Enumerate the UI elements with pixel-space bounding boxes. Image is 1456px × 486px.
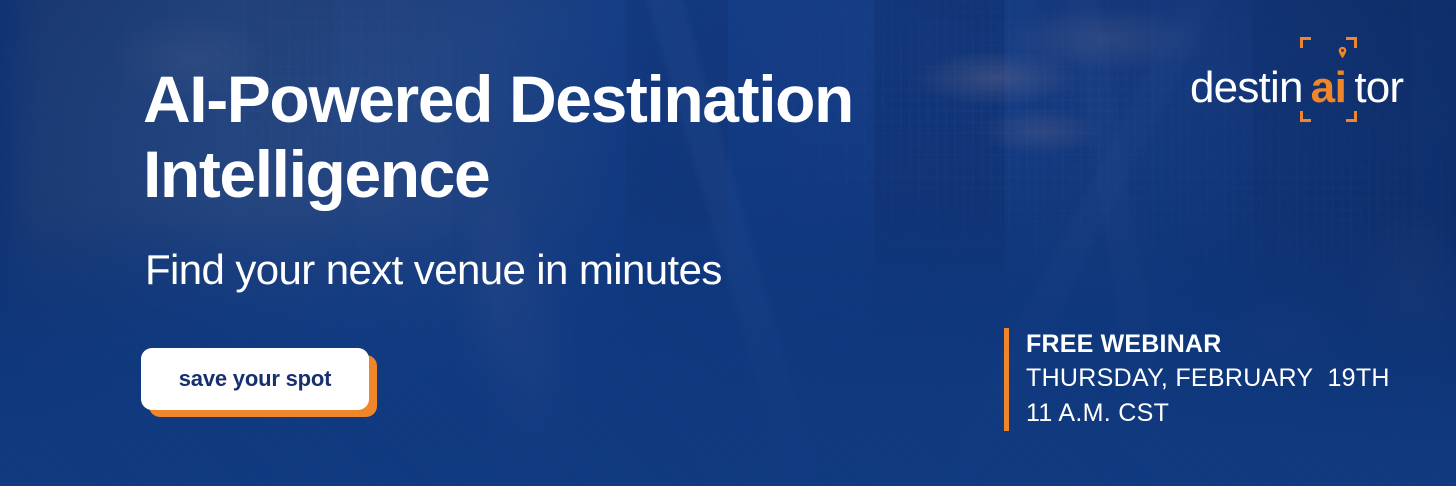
save-your-spot-button[interactable]: save your spot (141, 348, 369, 410)
logo-text-part-1: destin (1190, 66, 1303, 110)
bracket-top-left-icon (1300, 37, 1311, 48)
bracket-bottom-right-icon (1346, 111, 1357, 122)
logo-text-part-2: tor (1354, 66, 1403, 110)
cta-container: save your spot (141, 348, 369, 410)
bracket-bottom-left-icon (1300, 111, 1311, 122)
banner-content: AI-Powered Destination Intelligence Find… (0, 0, 1456, 486)
logo-ai-text: ai (1311, 63, 1347, 112)
event-date: THURSDAY, FEBRUARY 19TH (1026, 361, 1390, 396)
event-time: 11 A.M. CST (1026, 396, 1390, 431)
headline-line-2: Intelligence (143, 137, 1043, 212)
event-details: FREE WEBINAR THURSDAY, FEBRUARY 19TH 11 … (1004, 328, 1390, 431)
page-title: AI-Powered Destination Intelligence (143, 62, 1043, 211)
promo-banner: AI-Powered Destination Intelligence Find… (0, 0, 1456, 486)
logo-ai-badge: ai (1304, 66, 1354, 110)
destinaitor-logo[interactable]: destin ai tor (1190, 66, 1403, 110)
location-pin-icon (1336, 46, 1349, 59)
event-kicker: FREE WEBINAR (1026, 328, 1390, 361)
subheadline: Find your next venue in minutes (145, 246, 722, 294)
headline-line-1: AI-Powered Destination (143, 62, 1043, 137)
